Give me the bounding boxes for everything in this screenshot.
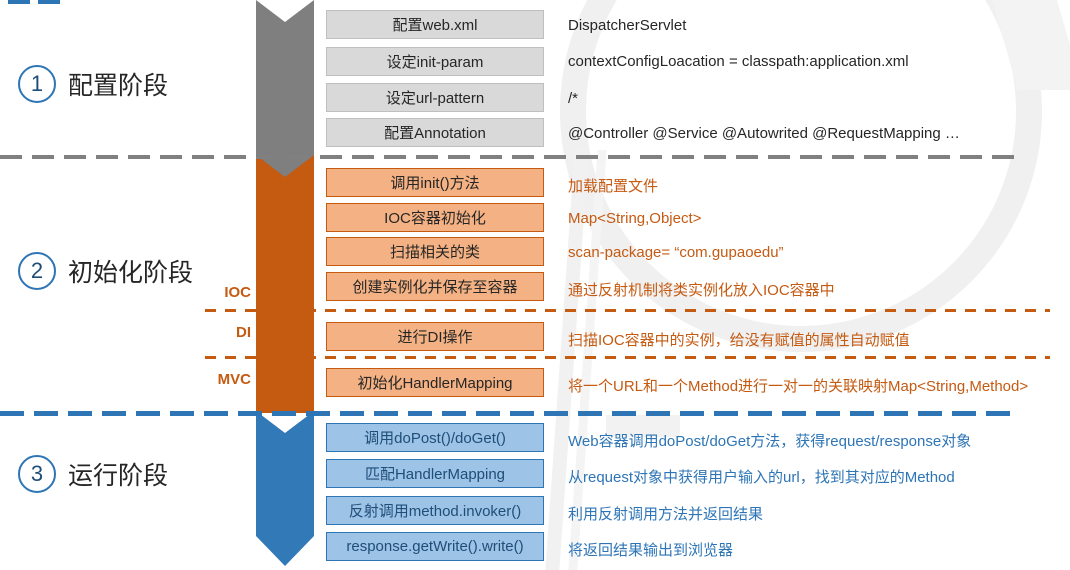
step-box-call-init-method[interactable]: 调用init()方法: [326, 168, 544, 197]
note-reflection-into-ioc: 通过反射机制将类实例化放入IOC容器中: [568, 279, 835, 300]
divider-ioc-di: [205, 309, 1050, 312]
step-box-configure-annotation[interactable]: 配置Annotation: [326, 118, 544, 147]
stage-1-title: 配置阶段: [68, 66, 168, 102]
step-box-ioc-container-init[interactable]: IOC容器初始化: [326, 203, 544, 232]
tag-mvc: MVC: [205, 371, 251, 388]
note-annotation-list: @Controller @Service @Autowrited @Reques…: [568, 125, 960, 142]
step-box-match-handler-mapping[interactable]: 匹配HandlerMapping: [326, 459, 544, 488]
note-context-config-location: contextConfigLoacation = classpath:appli…: [568, 53, 909, 70]
stage-3-title: 运行阶段: [68, 456, 168, 492]
step-box-do-di[interactable]: 进行DI操作: [326, 322, 544, 351]
diagram-canvas: 1 配置阶段 配置web.xml 设定init-param 设定url-patt…: [0, 0, 1070, 570]
step-box-create-instances[interactable]: 创建实例化并保存至容器: [326, 272, 544, 301]
stage-1-number-circle: 1: [18, 65, 56, 103]
stage-2-label: 2 初始化阶段: [18, 252, 193, 290]
background-corner-decoration: [992, 0, 1070, 90]
tag-ioc: IOC: [205, 284, 251, 301]
note-reflection-return-result: 利用反射调用方法并返回结果: [568, 503, 763, 524]
note-url-pattern-value: /*: [568, 90, 578, 107]
top-dashed-line-stub: [8, 0, 64, 4]
tag-di: DI: [205, 324, 251, 341]
stage-3-arrow: [256, 411, 314, 566]
stage-3-number-circle: 3: [18, 455, 56, 493]
note-map-string-object: Map<String,Object>: [568, 210, 701, 227]
stage-2-arrow: [256, 155, 314, 413]
note-auto-assign-fields: 扫描IOC容器中的实例，给没有赋值的属性自动赋值: [568, 329, 910, 350]
step-box-scan-classes[interactable]: 扫描相关的类: [326, 237, 544, 266]
note-find-method-from-url: 从request对象中获得用户输入的url，找到其对应的Method: [568, 466, 955, 487]
note-dispatcher-servlet: DispatcherServlet: [568, 17, 686, 34]
step-box-init-handler-mapping[interactable]: 初始化HandlerMapping: [326, 368, 544, 397]
stage-2-number-circle: 2: [18, 252, 56, 290]
note-url-method-mapping: 将一个URL和一个Method进行一对一的关联映射Map<String,Meth…: [568, 375, 1028, 396]
note-load-config-file: 加载配置文件: [568, 175, 658, 196]
divider-di-mvc: [205, 356, 1050, 359]
step-box-call-dopost-doget[interactable]: 调用doPost()/doGet(): [326, 423, 544, 452]
divider-stage-1-2: [0, 155, 1020, 159]
step-box-reflect-invoke-method[interactable]: 反射调用method.invoker(): [326, 496, 544, 525]
step-box-set-init-param[interactable]: 设定init-param: [326, 47, 544, 76]
step-box-response-write[interactable]: response.getWrite().write(): [326, 532, 544, 561]
stage-3-label: 3 运行阶段: [18, 455, 168, 493]
note-scan-package: scan-package= “com.gupaoedu”: [568, 244, 784, 261]
note-web-container-invoke: Web容器调用doPost/doGet方法，获得request/response…: [568, 430, 971, 451]
divider-stage-2-3: [0, 411, 1020, 416]
stage-1-label: 1 配置阶段: [18, 65, 168, 103]
note-output-to-browser: 将返回结果输出到浏览器: [568, 539, 733, 560]
stage-2-title: 初始化阶段: [68, 253, 193, 289]
step-box-set-url-pattern[interactable]: 设定url-pattern: [326, 83, 544, 112]
step-box-configure-web-xml[interactable]: 配置web.xml: [326, 10, 544, 39]
